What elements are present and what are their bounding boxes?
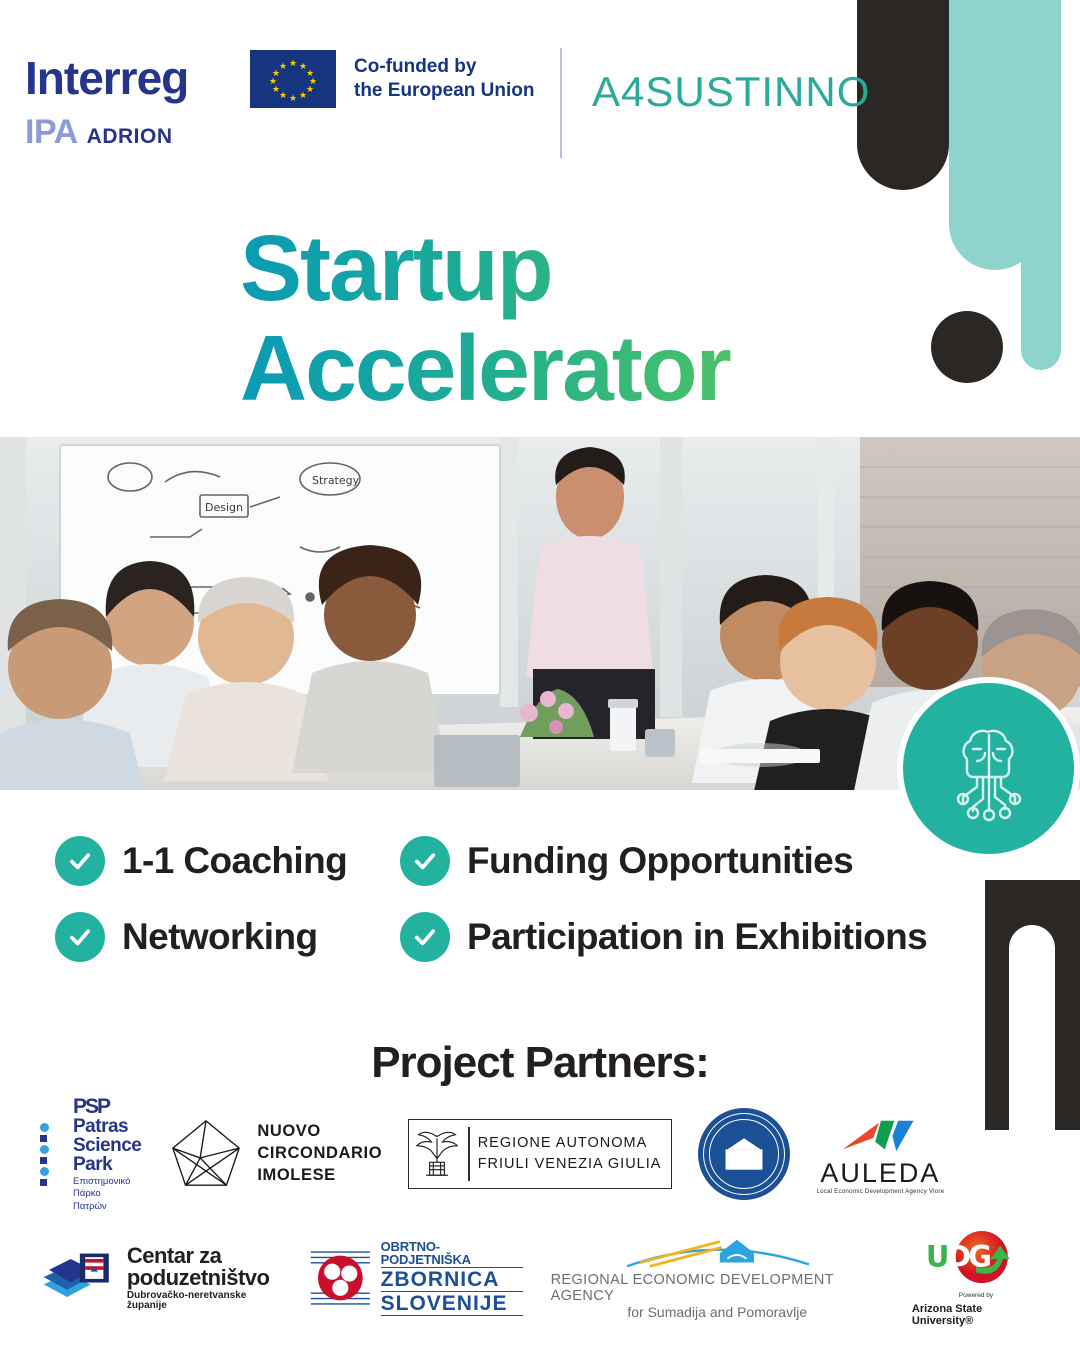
svg-text:G: G bbox=[968, 1239, 992, 1273]
patras-name-line3: Park bbox=[73, 1155, 141, 1174]
eagle-icon bbox=[414, 1125, 460, 1183]
project-brand-name: A4SUSTINNO bbox=[592, 68, 870, 116]
eu-cofunding-logo: ★ ★ ★ ★ ★ ★ ★ ★ ★ ★ ★ ★ Co-funded by the… bbox=[250, 50, 535, 108]
seal-inner-ring bbox=[709, 1119, 779, 1189]
partner-logo-udg: U D G Powered by Arizona State Universit… bbox=[912, 1230, 1040, 1327]
ai-brain-circuit-icon bbox=[897, 677, 1080, 860]
interreg-logo: Interreg IPA ADRION bbox=[25, 55, 188, 149]
partner-logo-friuli-venezia-giulia: REGIONE AUTONOMA FRIULI VENEZIA GIULIA bbox=[408, 1119, 672, 1189]
partner-logo-zbornica-slovenije: OBRTNO-PODJETNIŠKA ZBORNICA SLOVENIJE bbox=[309, 1240, 523, 1316]
partners-heading: Project Partners: bbox=[0, 1038, 1080, 1088]
features-list: 1-1 Coaching Funding Opportunities Netwo… bbox=[55, 836, 995, 988]
nci-line1: NUOVO bbox=[257, 1121, 382, 1143]
udg-university-name: Arizona State University® bbox=[912, 1303, 1040, 1327]
header-divider bbox=[560, 48, 562, 158]
zbornica-line1: OBRTNO-PODJETNIŠKA bbox=[381, 1240, 523, 1268]
patras-text-block: PSP Patras Science Park Επιστημονικό Πάρ… bbox=[73, 1096, 141, 1213]
auleda-mark-icon bbox=[837, 1113, 923, 1159]
feature-item-funding: Funding Opportunities bbox=[400, 836, 853, 886]
interreg-wordmark: Interreg bbox=[25, 55, 188, 101]
poster: Interreg IPA ADRION ★ ★ ★ ★ ★ ★ ★ ★ ★ ★ … bbox=[0, 0, 1080, 1350]
fvg-text-block: REGIONE AUTONOMA FRIULI VENEZIA GIULIA bbox=[478, 1133, 662, 1174]
fvg-line2: FRIULI VENEZIA GIULIA bbox=[478, 1154, 662, 1175]
patras-name-line1: Patras bbox=[73, 1117, 141, 1136]
partner-logo-patras-science-park: PSP Patras Science Park Επιστημονικό Πάρ… bbox=[40, 1096, 141, 1213]
feature-item-exhibitions: Participation in Exhibitions bbox=[400, 912, 927, 962]
partners-row-2: Centar za poduzetništvo Dubrovačko-neret… bbox=[40, 1228, 1040, 1328]
feature-item-networking: Networking bbox=[55, 912, 400, 962]
eu-funding-text: Co-funded by the European Union bbox=[354, 55, 535, 104]
nci-text-block: NUOVO CIRCONDARIO IMOLESE bbox=[257, 1121, 382, 1186]
reda-roof-icon bbox=[607, 1236, 827, 1272]
patras-greek-line1: Επιστημονικό bbox=[73, 1177, 141, 1188]
sarajevo-seal-icon bbox=[698, 1108, 790, 1200]
centar-line2: poduzetništvo bbox=[127, 1267, 281, 1289]
svg-text:U: U bbox=[926, 1239, 949, 1273]
decor-circle-dark bbox=[931, 311, 1003, 383]
features-row-2: Networking Participation in Exhibitions bbox=[55, 912, 995, 962]
partner-logo-regional-economic-development-agency: REGIONAL ECONOMIC DEVELOPMENT AGENCY for… bbox=[551, 1236, 884, 1320]
ipa-adrion-lockup: IPA ADRION bbox=[25, 115, 188, 149]
features-row-1: 1-1 Coaching Funding Opportunities bbox=[55, 836, 995, 886]
centar-text-block: Centar za poduzetništvo Dubrovačko-neret… bbox=[127, 1245, 281, 1311]
decor-bar-dark-top bbox=[857, 0, 949, 190]
partner-logo-centar-za-poduzetnistvo: Centar za poduzetništvo Dubrovačko-neret… bbox=[40, 1245, 281, 1311]
partner-logo-university-of-sarajevo bbox=[698, 1108, 790, 1200]
page-title: Startup Accelerator bbox=[240, 218, 880, 419]
centar-mark-icon bbox=[40, 1247, 118, 1309]
partner-logo-auleda: AULEDA Local Economic Development Agency… bbox=[816, 1113, 944, 1195]
svg-text:Design: Design bbox=[205, 501, 243, 514]
title-line-1: Startup bbox=[240, 218, 880, 318]
partner-logo-nuovo-circondario-imolese: NUOVO CIRCONDARIO IMOLESE bbox=[167, 1115, 382, 1193]
udg-powered-by: Powered by bbox=[959, 1292, 993, 1299]
partners-row-1: PSP Patras Science Park Επιστημονικό Πάρ… bbox=[40, 1098, 1040, 1210]
zbornica-mark-icon bbox=[309, 1245, 372, 1311]
patras-name-line2: Science bbox=[73, 1136, 141, 1155]
reda-line1: REGIONAL ECONOMIC DEVELOPMENT AGENCY bbox=[551, 1272, 884, 1304]
centar-line1: Centar za bbox=[127, 1245, 281, 1267]
patras-greek-line2: Πάρκο bbox=[73, 1189, 141, 1200]
eu-flag-icon: ★ ★ ★ ★ ★ ★ ★ ★ ★ ★ ★ ★ bbox=[250, 50, 336, 108]
centar-line3: Dubrovačko-neretvanske županije bbox=[127, 1291, 281, 1311]
zbornica-line3: SLOVENIJE bbox=[381, 1292, 523, 1316]
patras-dots-icon bbox=[40, 1123, 66, 1186]
polyhedron-icon bbox=[167, 1115, 245, 1193]
patras-monogram: PSP bbox=[73, 1096, 141, 1117]
check-circle-icon bbox=[55, 836, 105, 886]
adrion-wordmark: ADRION bbox=[87, 126, 173, 149]
reda-line2: for Sumadija and Pomoravlje bbox=[627, 1304, 807, 1320]
eu-funding-line1: Co-funded by bbox=[354, 55, 535, 79]
eu-funding-line2: the European Union bbox=[354, 79, 535, 103]
feature-label: Networking bbox=[122, 916, 317, 958]
feature-label: 1-1 Coaching bbox=[122, 840, 347, 882]
fvg-line1: REGIONE AUTONOMA bbox=[478, 1133, 662, 1154]
check-circle-icon bbox=[400, 912, 450, 962]
auleda-wordmark: AULEDA bbox=[820, 1160, 940, 1187]
auleda-subtitle: Local Economic Development Agency Vlore bbox=[816, 1188, 944, 1195]
feature-label: Funding Opportunities bbox=[467, 840, 853, 882]
check-circle-icon bbox=[400, 836, 450, 886]
fvg-separator bbox=[468, 1127, 470, 1181]
ipa-wordmark: IPA bbox=[25, 115, 78, 149]
udg-mark-icon: U D G bbox=[922, 1230, 1030, 1288]
svg-text:Strategy: Strategy bbox=[312, 474, 360, 487]
check-circle-icon bbox=[55, 912, 105, 962]
zbornica-text-block: OBRTNO-PODJETNIŠKA ZBORNICA SLOVENIJE bbox=[381, 1240, 523, 1316]
title-line-2: Accelerator bbox=[240, 318, 880, 418]
feature-label: Participation in Exhibitions bbox=[467, 916, 927, 958]
zbornica-line2: ZBORNICA bbox=[381, 1268, 523, 1292]
nci-line2: CIRCONDARIO bbox=[257, 1143, 382, 1165]
nci-line3: IMOLESE bbox=[257, 1165, 382, 1187]
feature-item-coaching: 1-1 Coaching bbox=[55, 836, 400, 886]
patras-greek-line3: Πατρών bbox=[73, 1202, 141, 1213]
decor-bar-teal-secondary bbox=[1021, 0, 1061, 370]
